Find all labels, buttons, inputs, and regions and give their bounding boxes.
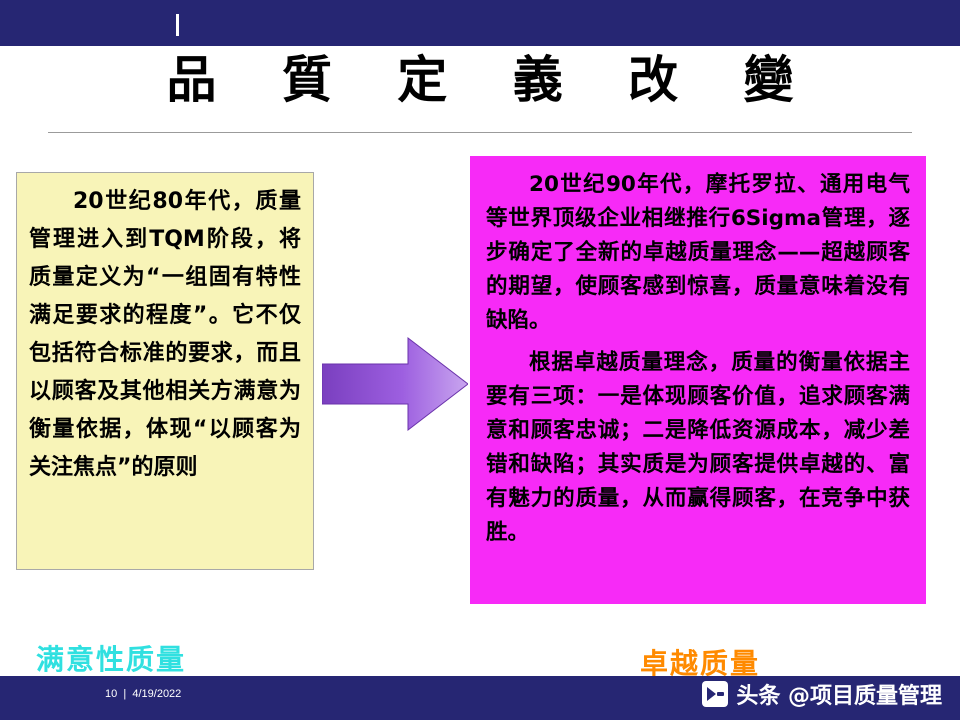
toutiao-logo-icon [702, 681, 728, 707]
satisfaction-quality-box: 20世纪80年代，质量管理进入到TQM阶段，将质量定义为“一组固有特性满足要求的… [16, 172, 314, 570]
left-box-paragraph: 20世纪80年代，质量管理进入到TQM阶段，将质量定义为“一组固有特性满足要求的… [29, 183, 301, 487]
right-box-paragraph-1: 20世纪90年代，摩托罗拉、通用电气等世界顶级企业相继推行6Sigma管理，逐步… [486, 168, 910, 338]
top-navy-bar [0, 0, 960, 46]
caption-satisfaction-quality: 满意性质量 [36, 638, 186, 678]
title-divider [48, 132, 912, 133]
watermark: 头条 @项目质量管理 [702, 678, 942, 710]
footer-separator: | [123, 688, 126, 700]
excellence-quality-box: 20世纪90年代，摩托罗拉、通用电气等世界顶级企业相继推行6Sigma管理，逐步… [470, 156, 926, 604]
page-title: 品 質 定 義 改 變 [0, 50, 960, 110]
right-arrow-icon [322, 336, 468, 432]
topbar-tick-mark [176, 14, 179, 36]
watermark-text: 头条 @项目质量管理 [736, 678, 942, 710]
right-box-paragraph-2: 根据卓越质量理念，质量的衡量依据主要有三项：一是体现顾客价值，追求顾客满意和顾客… [486, 346, 910, 550]
footer-page-number: 10 [105, 688, 117, 700]
footer-date: 4/19/2022 [132, 688, 181, 700]
footer-page-info: 10 | 4/19/2022 [105, 688, 181, 700]
